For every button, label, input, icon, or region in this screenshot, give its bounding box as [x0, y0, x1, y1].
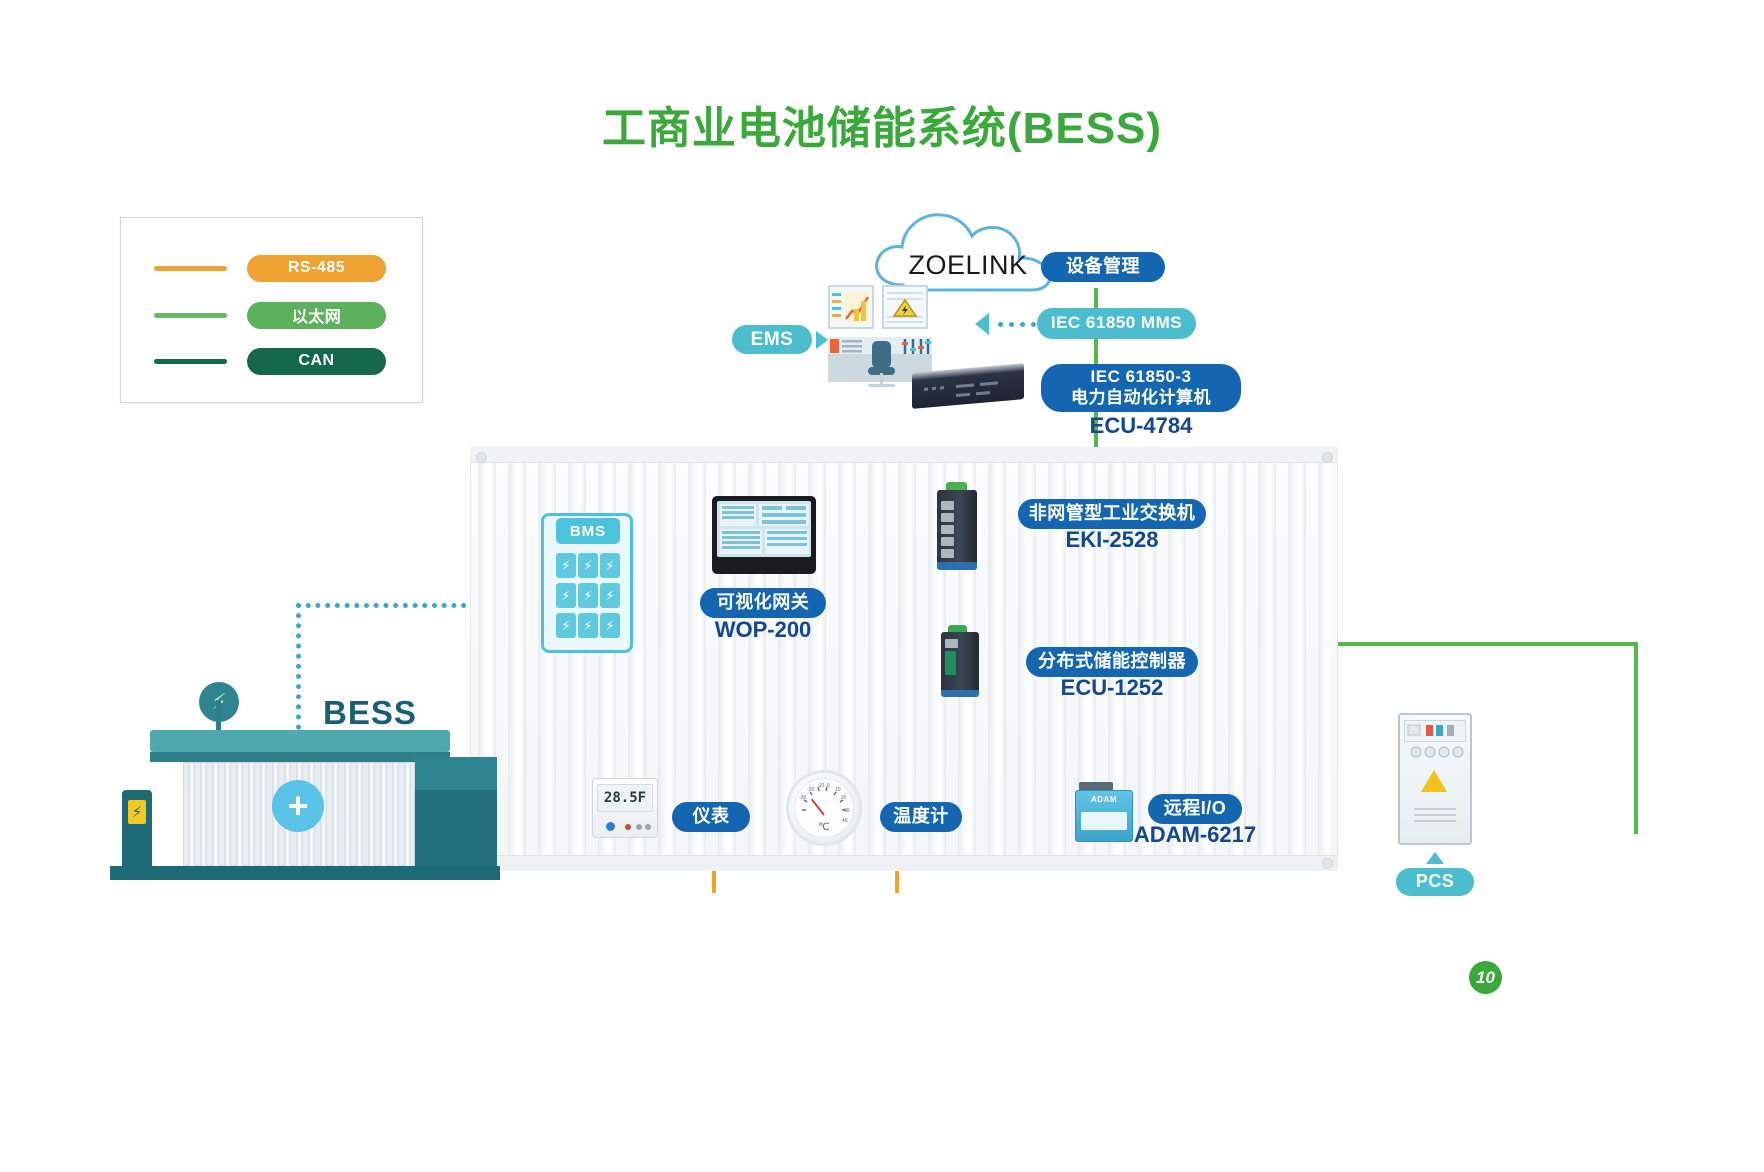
cloud-label: ZOELINK [868, 250, 1068, 281]
ecu1252-model: ECU-1252 [1026, 675, 1198, 701]
chair-back [872, 341, 891, 368]
keyboard-icon [830, 337, 864, 357]
svg-text:10: 10 [835, 787, 841, 793]
battery-cell: ⚡ [556, 583, 576, 608]
monitor-chart-icon [828, 285, 874, 329]
legend-item-rs485: RS-485 [121, 253, 424, 283]
battery-cell: ⚡ [578, 583, 598, 608]
ecu1252-foot [941, 690, 979, 697]
slide-canvas: 工商业电池储能系统(BESS) RS-485 以太网 CAN [0, 0, 1764, 1172]
chair-base [868, 384, 895, 387]
meter-pill[interactable]: 仪表 [672, 802, 750, 832]
adam6217-model: ADAM-6217 [1130, 822, 1260, 848]
thermometer-unit: ℃ [794, 822, 854, 833]
ecu4784-pill-line1: IEC 61850-3 [1091, 367, 1192, 388]
page-title: 工商业电池储能系统(BESS) [0, 92, 1764, 156]
meter-button-blue[interactable] [606, 822, 615, 831]
slider-controls-icon [901, 337, 931, 357]
adam6217-brand-text: ADAM [1075, 795, 1133, 804]
wop200-pill[interactable]: 可视化网关 [700, 588, 826, 618]
ecu4784-model: ECU-4784 [1041, 413, 1241, 439]
container-top-rail [470, 447, 1338, 463]
thermometer-pill[interactable]: 温度计 [880, 802, 962, 832]
bar-chart-icon [830, 287, 872, 327]
ev-charger-bolt-icon: ⚡ [128, 800, 146, 824]
eki2528-device [937, 490, 977, 570]
warning-triangle-icon [884, 287, 926, 327]
legend-line-rs485 [154, 266, 227, 271]
legend-pill-can: CAN [247, 348, 386, 375]
legend-pill-rs485: RS-485 [247, 255, 386, 282]
battery-cell: ⚡ [556, 553, 576, 578]
monitor-alarm-icon [882, 285, 928, 329]
svg-text:-20: -20 [807, 787, 814, 793]
switch-foot [937, 562, 977, 570]
wop200-device [712, 496, 816, 574]
legend-panel: RS-485 以太网 CAN [120, 217, 423, 403]
adam6217-faceplate [1081, 812, 1127, 830]
ethernet-line-right-down [1634, 642, 1638, 832]
meter-led-grey [636, 824, 642, 830]
ems-pill[interactable]: EMS [732, 325, 812, 354]
legend-line-can [154, 359, 227, 364]
adam6217-pill[interactable]: 远程I/O [1148, 794, 1242, 824]
svg-text:20: 20 [841, 795, 847, 801]
pcs-indicator-icons [1406, 722, 1464, 740]
ethernet-line-right-to-pcs [1634, 830, 1638, 834]
bess-side-block-dark [415, 790, 497, 867]
pcs-vent [1414, 820, 1456, 822]
svg-text:30: 30 [844, 808, 850, 814]
battery-cell: ⚡ [556, 613, 576, 638]
battery-cell: ⚡ [600, 583, 620, 608]
battery-cell: ⚡ [578, 613, 598, 638]
svg-text:-30: -30 [799, 795, 806, 801]
battery-cell: ⚡ [578, 553, 598, 578]
iec-mms-pill[interactable]: IEC 61850 MMS [1037, 308, 1196, 339]
ecu4784-pill[interactable]: IEC 61850-3 电力自动化计算机 [1041, 364, 1241, 412]
legend-item-ethernet: 以太网 [121, 300, 424, 330]
container-bottom-rail [470, 855, 1338, 871]
svg-text:0: 0 [827, 783, 830, 789]
page-number-badge: 10 [1469, 961, 1502, 994]
hmi-screen [717, 501, 811, 557]
legend-line-ethernet [154, 313, 227, 318]
bess-roof [150, 730, 450, 752]
container-bolt [1322, 452, 1333, 463]
iec-mms-dotted-line [998, 322, 1036, 327]
pcs-pill[interactable]: PCS [1396, 868, 1474, 896]
meter-display: 28.5F [597, 784, 653, 812]
legend-pill-ethernet: 以太网 [247, 302, 386, 329]
meter-led-grey-2 [645, 824, 651, 830]
bess-plus-icon: + [272, 780, 324, 832]
battery-cell: ⚡ [600, 553, 620, 578]
meter-led-red [625, 824, 631, 830]
battery-cell: ⚡ [600, 613, 620, 638]
pcs-vent [1414, 814, 1456, 816]
pcs-vent [1414, 808, 1456, 810]
ecu1252-pill[interactable]: 分布式储能控制器 [1026, 647, 1198, 677]
eki2528-model: EKI-2528 [1018, 527, 1206, 553]
bess-base-platform [110, 866, 500, 880]
bms-label: BMS [556, 518, 620, 544]
pcs-knobs-icons[interactable] [1408, 745, 1464, 759]
pcs-arrow-icon [1426, 852, 1444, 864]
pcs-warning-icon [1421, 770, 1447, 792]
eki2528-pill[interactable]: 非网管型工业交换机 [1018, 499, 1206, 529]
wop200-model: WOP-200 [700, 617, 826, 643]
iec-mms-arrow-icon [975, 313, 989, 335]
bess-pole [216, 700, 221, 732]
ecu1252-device [941, 632, 979, 696]
container-bolt [1322, 858, 1333, 869]
legend-item-can: CAN [121, 346, 424, 376]
device-management-pill[interactable]: 设备管理 [1041, 252, 1165, 282]
ecu4784-pill-line2: 电力自动化计算机 [1071, 388, 1211, 409]
dotted-line-to-bess-top [296, 603, 476, 608]
bess-roof-shadow [150, 752, 450, 762]
ems-workstation-illustration [828, 285, 932, 382]
ems-arrow-icon [816, 331, 828, 349]
bess-building-label: BESS [323, 694, 417, 732]
container-bolt [476, 452, 487, 463]
svg-text:-10: -10 [817, 783, 824, 789]
